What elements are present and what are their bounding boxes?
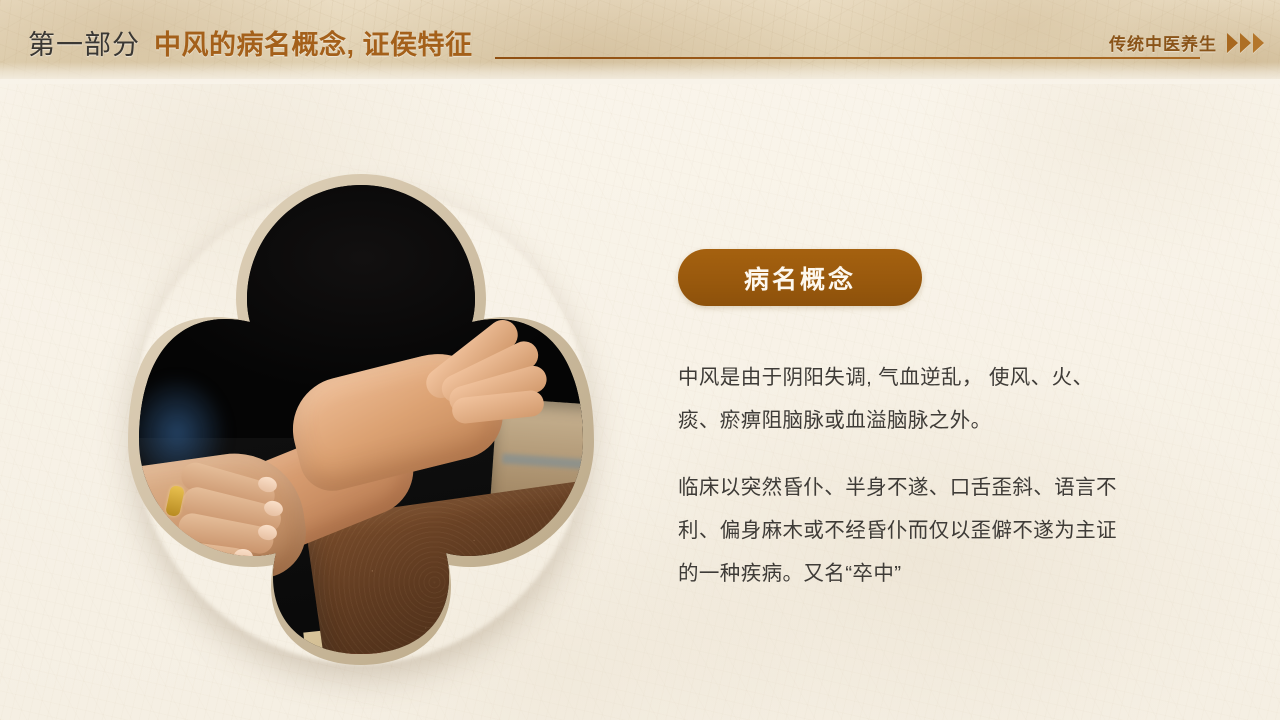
body-paragraph-1: 中风是由于阴阳失调, 气血逆乱， 使风、火、痰、瘀痹阻脑脉或血溢脑脉之外。 xyxy=(678,356,1130,442)
photo-image xyxy=(122,168,600,668)
photo-quatrefoil-frame xyxy=(122,168,600,668)
brand-label: 传统中医养生 xyxy=(1109,30,1217,55)
section-heading-label: 病名概念 xyxy=(744,260,856,296)
chevron-right-icon xyxy=(1227,33,1264,53)
section-heading-pill: 病名概念 xyxy=(678,249,922,306)
photo-art xyxy=(122,168,600,668)
brand-group: 传统中医养生 xyxy=(1109,30,1264,55)
section-label: 第一部分 xyxy=(28,23,140,62)
chevron-right-icon-3 xyxy=(1253,33,1264,53)
slide-canvas: 第一部分 中风的病名概念, 证侯特征 传统中医养生 xyxy=(0,0,1280,720)
page-title: 中风的病名概念, 证侯特征 xyxy=(154,23,473,62)
slide-title-group: 第一部分 中风的病名概念, 证侯特征 xyxy=(28,23,473,62)
chevron-right-icon-1 xyxy=(1227,33,1238,53)
title-underline-rule xyxy=(495,57,1200,59)
chevron-right-icon-2 xyxy=(1240,33,1251,53)
body-paragraph-2: 临床以突然昏仆、半身不遂、口舌歪斜、语言不利、偏身麻木或不经昏仆而仅以歪僻不遂为… xyxy=(678,466,1130,595)
